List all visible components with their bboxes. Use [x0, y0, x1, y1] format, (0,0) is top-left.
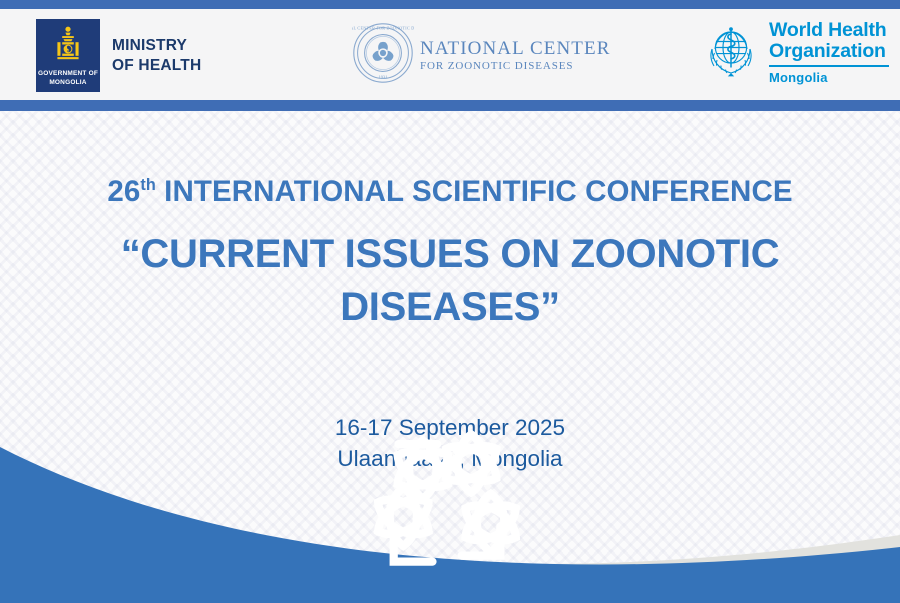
who-name-line2: Organization — [769, 41, 889, 62]
top-accent-bar — [0, 0, 900, 9]
who-logo: World Health Organization Mongolia — [700, 20, 889, 85]
nczd-name-line1: NATIONAL CENTER — [420, 38, 610, 59]
who-country-label: Mongolia — [769, 70, 889, 85]
headline-text: INTERNATIONAL SCIENTIFIC CONFERENCE — [156, 175, 793, 208]
who-emblem-icon — [700, 22, 762, 83]
bottom-decoration — [0, 443, 900, 603]
emblem-caption: GOVERNMENT OF MONGOLIA — [36, 69, 100, 87]
ministry-name: MINISTRY OF HEALTH — [112, 36, 201, 76]
nczd-name: NATIONAL CENTER FOR ZOONOTIC DISEASES — [420, 38, 610, 73]
nczd-logo: NATIONAL CENTER FOR ZOONOTIC DISEASES 19… — [352, 22, 610, 89]
conference-title: “CURRENT ISSUES ON ZOONOTIC DISEASES” — [60, 228, 840, 334]
nczd-name-line2: FOR ZOONOTIC DISEASES — [420, 59, 610, 73]
mongolia-government-emblem: GOVERNMENT OF MONGOLIA — [36, 19, 100, 92]
svg-text:NATIONAL CENTER FOR ZOONOTIC D: NATIONAL CENTER FOR ZOONOTIC DISEASES — [352, 25, 414, 30]
who-name-block: World Health Organization Mongolia — [769, 20, 889, 85]
who-divider-rule — [769, 65, 889, 67]
svg-text:1931: 1931 — [379, 75, 388, 80]
nczd-seal-icon: NATIONAL CENTER FOR ZOONOTIC DISEASES 19… — [352, 22, 414, 89]
conference-headline: 26th INTERNATIONAL SCIENTIFIC CONFERENCE — [0, 175, 900, 209]
conference-title-line2: DISEASES” — [60, 281, 840, 334]
header-divider-bar — [0, 100, 900, 111]
soyombo-symbol-icon — [51, 25, 85, 70]
headline-ordinal-suffix: th — [140, 176, 156, 194]
ministry-name-line2: OF HEALTH — [112, 56, 201, 76]
emblem-caption-line1: GOVERNMENT OF — [36, 69, 100, 78]
who-name-line1: World Health — [769, 20, 889, 41]
emblem-caption-line2: MONGOLIA — [36, 78, 100, 87]
ministry-name-line1: MINISTRY — [112, 36, 201, 56]
ministry-of-health-logo: GOVERNMENT OF MONGOLIA MINISTRY OF HEALT… — [36, 19, 201, 92]
conference-slide: GOVERNMENT OF MONGOLIA MINISTRY OF HEALT… — [0, 0, 900, 603]
conference-title-line1: “CURRENT ISSUES ON ZOONOTIC — [60, 228, 840, 281]
mongolian-knot-ornament-right — [0, 415, 880, 575]
headline-number: 26 — [107, 175, 140, 208]
